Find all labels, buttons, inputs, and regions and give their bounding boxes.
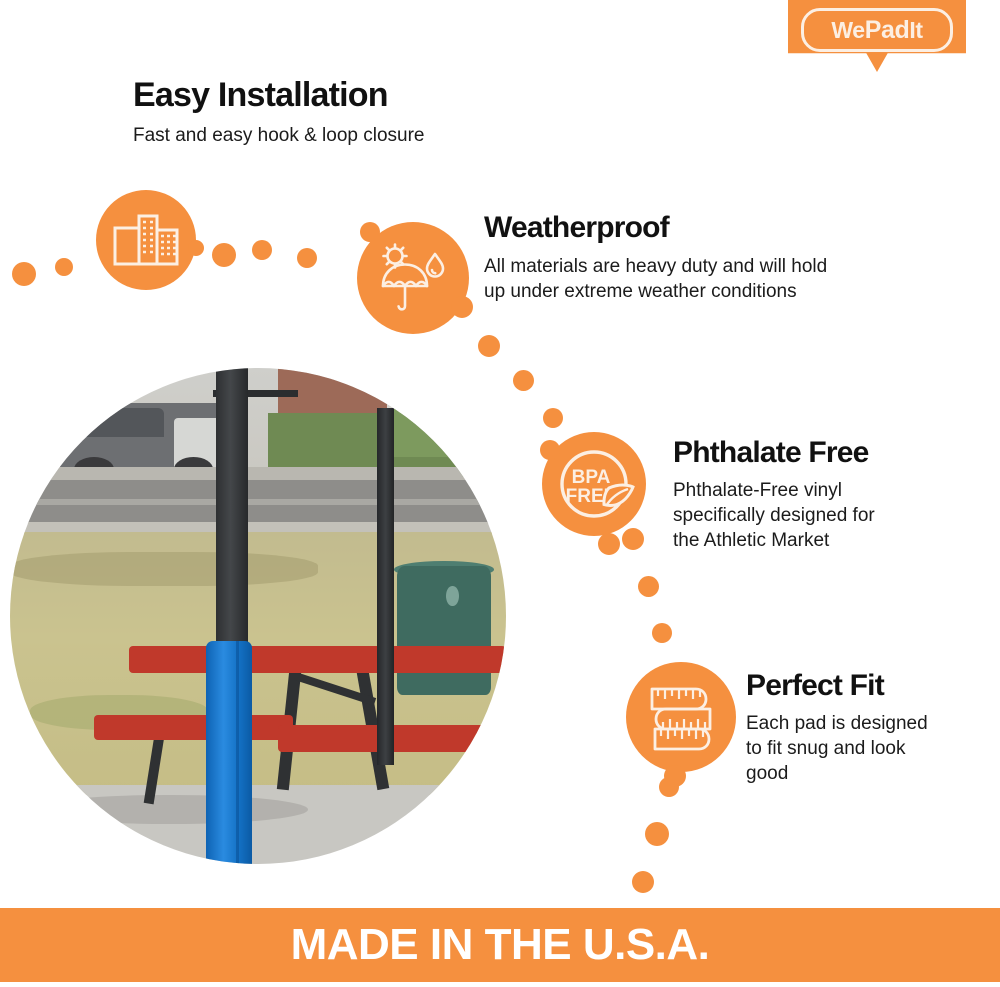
photo-grass-patch bbox=[10, 552, 318, 587]
photo-main-pole bbox=[216, 368, 248, 676]
icon-decoration-nub bbox=[622, 528, 644, 550]
photo-suv-window bbox=[74, 408, 163, 438]
brand-logo-text: WePadIt bbox=[831, 18, 922, 43]
photo-barrel-highlight bbox=[446, 586, 458, 606]
feature-description-phthalate-free: Phthalate-Free vinyl specifically design… bbox=[673, 478, 875, 554]
photo-concrete-pad bbox=[10, 785, 506, 864]
feature-description-line: Each pad is designed bbox=[746, 711, 928, 736]
feature-title-phthalate-free: Phthalate Free bbox=[673, 437, 875, 469]
trail-dot bbox=[638, 576, 659, 597]
trail-dot bbox=[297, 248, 317, 268]
feature-description-line: Phthalate-Free vinyl bbox=[673, 478, 875, 503]
photo-picnic-bench bbox=[94, 715, 292, 740]
feature-block-phthalate-free: Phthalate Free Phthalate-Free vinyl spec… bbox=[673, 437, 875, 553]
feature-description-line: the Athletic Market bbox=[673, 528, 875, 553]
trail-dot bbox=[212, 243, 236, 267]
trail-dot bbox=[478, 335, 500, 357]
photo-ground-shadow bbox=[30, 795, 308, 825]
photo-blue-pole-pad bbox=[206, 641, 252, 864]
photo-trash-barrel bbox=[397, 566, 491, 695]
trail-dot bbox=[12, 262, 36, 286]
feature-title-weatherproof: Weatherproof bbox=[484, 212, 827, 244]
trail-dot bbox=[598, 533, 620, 555]
feature-description-line: specifically designed for bbox=[673, 503, 875, 528]
feature-description-line: All materials are heavy duty and will ho… bbox=[484, 254, 827, 279]
feature-title-perfect-fit: Perfect Fit bbox=[746, 670, 928, 702]
photo-secondary-pole bbox=[377, 408, 394, 765]
trail-dot bbox=[513, 370, 534, 391]
trail-dot bbox=[632, 871, 654, 893]
feature-description-line: up under extreme weather conditions bbox=[484, 279, 827, 304]
trail-dot bbox=[55, 258, 73, 276]
feature-description-perfect-fit: Each pad is designed to fit snug and loo… bbox=[746, 711, 928, 787]
feature-description-line: to fit snug and look bbox=[746, 736, 928, 761]
feature-description-line: good bbox=[746, 761, 928, 786]
photo-pad-seam bbox=[236, 641, 238, 864]
brand-logo-badge: WePadIt bbox=[788, 0, 966, 72]
feature-description-easy-installation: Fast and easy hook & loop closure bbox=[133, 123, 425, 148]
trail-dot bbox=[543, 408, 563, 428]
made-in-usa-text: MADE IN THE U.S.A. bbox=[291, 923, 710, 967]
feature-title-easy-installation: Easy Installation bbox=[133, 78, 425, 114]
icon-decoration-nub bbox=[188, 240, 204, 256]
brand-logo-outline: WePadIt bbox=[801, 8, 953, 52]
photo-hedge-bush bbox=[377, 403, 506, 458]
feature-description-weatherproof: All materials are heavy duty and will ho… bbox=[484, 254, 827, 305]
bpa-icon-text-line1: BPA bbox=[572, 467, 611, 488]
buildings-icon bbox=[96, 190, 196, 290]
trail-dot bbox=[652, 623, 672, 643]
icon-decoration-nub bbox=[664, 765, 686, 787]
feature-block-weatherproof: Weatherproof All materials are heavy dut… bbox=[484, 212, 827, 304]
photo-road-line bbox=[10, 499, 506, 504]
brand-logo-text-pad: Pad bbox=[865, 16, 910, 44]
trail-dot bbox=[252, 240, 272, 260]
feature-block-easy-installation: Easy Installation Fast and easy hook & l… bbox=[133, 78, 425, 148]
icon-decoration-nub bbox=[540, 440, 560, 460]
photo-picnic-table-top bbox=[129, 646, 506, 673]
feature-block-perfect-fit: Perfect Fit Each pad is designed to fit … bbox=[746, 670, 928, 786]
product-photo bbox=[10, 368, 506, 864]
brand-logo-text-it: It bbox=[909, 17, 922, 43]
made-in-usa-banner: MADE IN THE U.S.A. bbox=[0, 908, 1000, 982]
trail-dot bbox=[645, 822, 669, 846]
brand-logo-text-we: We bbox=[831, 17, 864, 43]
measuring-tape-icon bbox=[626, 662, 736, 772]
icon-decoration-nub bbox=[451, 296, 473, 318]
infographic-page: WePadIt Easy Installation Fast and easy … bbox=[0, 0, 1000, 987]
icon-decoration-nub bbox=[360, 222, 380, 242]
